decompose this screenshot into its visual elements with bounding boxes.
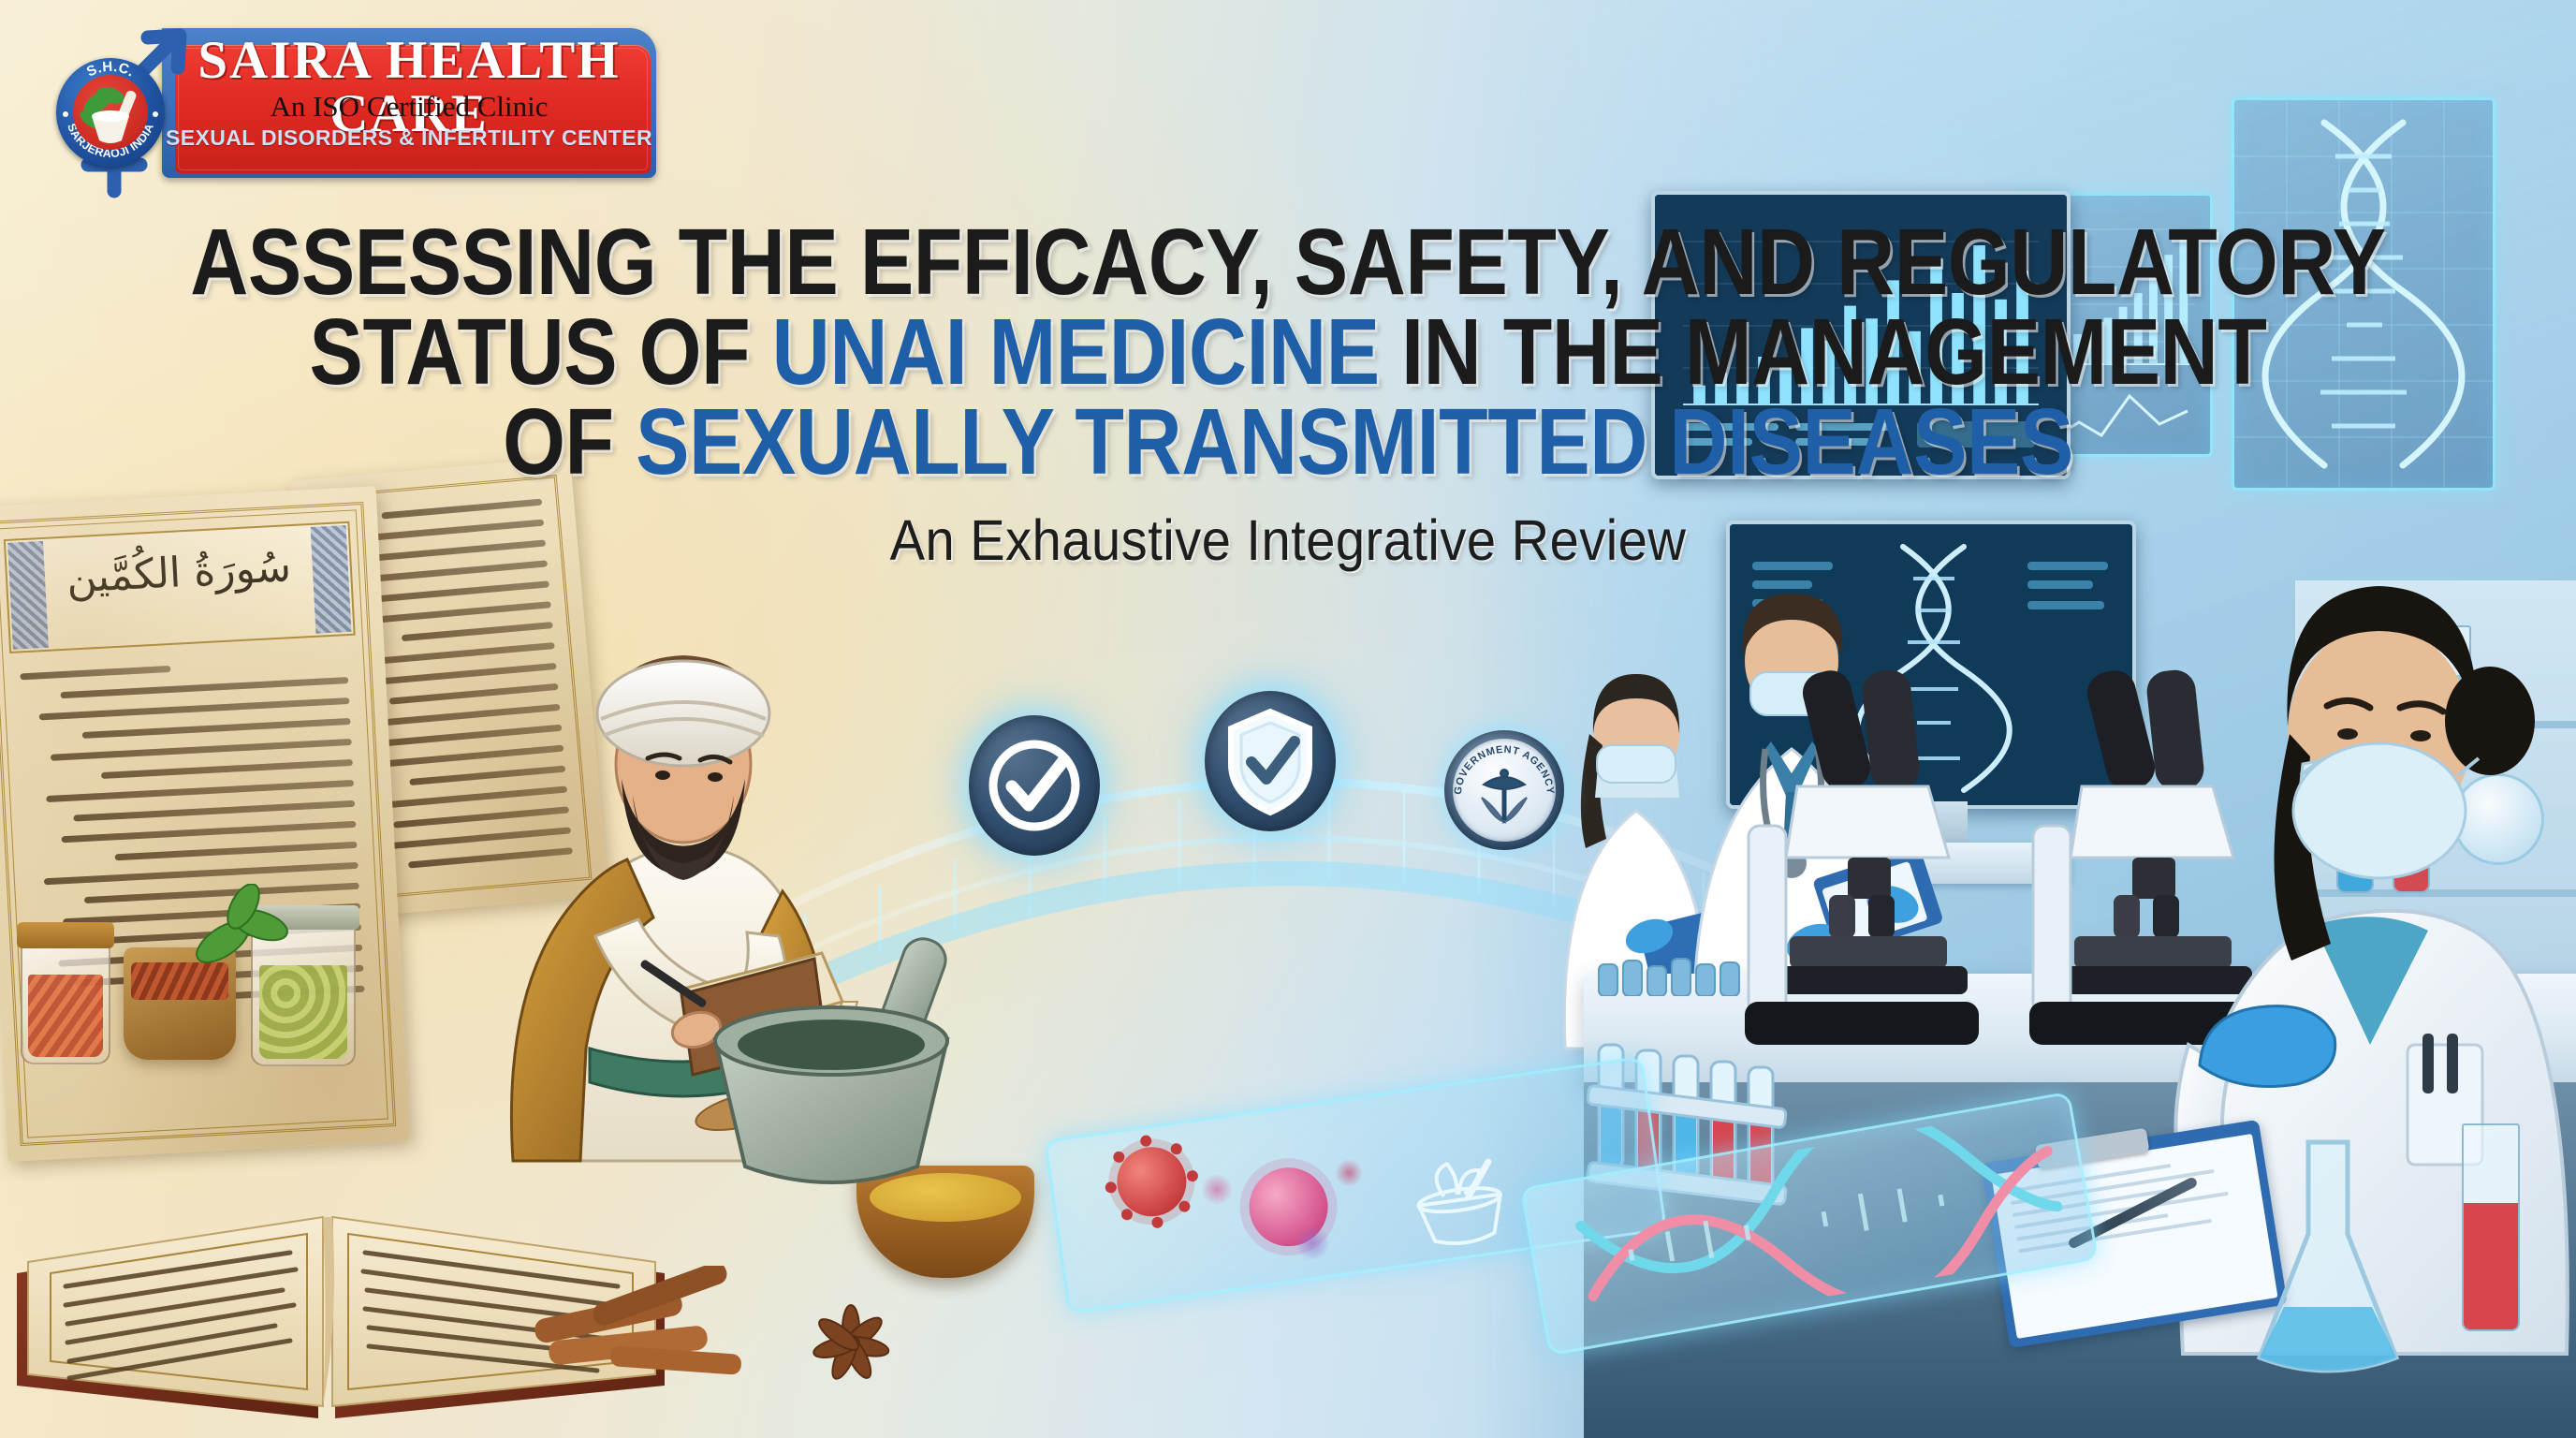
large-test-tube [2462, 1123, 2520, 1331]
herbal-mortar-icon [1398, 1144, 1522, 1256]
headline-line-3: OF SEXUALLY TRANSMITTED DISEASES [181, 397, 2396, 487]
erlenmeyer-flask [2239, 1133, 2417, 1386]
logo-emblem: S.H.C. SARJERAOJI INDIA [34, 30, 174, 170]
badge-row: GOVERNMENT AGENCY [969, 695, 1577, 873]
emblem-mortar-icon [73, 75, 148, 150]
microscope-left [1707, 655, 2016, 1058]
headline-line-2: STATUS OF UNAI MEDICINE IN THE MANAGEMEN… [181, 307, 2396, 397]
cinnamon-sticks [524, 1266, 796, 1387]
poster-root: سُورَةُ الكُمَّين [0, 0, 2576, 1438]
logo-plate: SAIRA HEALTH CARE An ISO Certified Clini… [162, 28, 656, 178]
clinic-name: SAIRA HEALTH CARE [162, 34, 656, 140]
headline-block: ASSESSING THE EFFICACY, SAFETY, AND REGU… [0, 217, 2576, 573]
mortar-and-pestle [672, 927, 990, 1198]
basil-leaves [183, 884, 324, 987]
clinic-tagline: An ISO Certified Clinic [162, 92, 656, 121]
vial-row [1595, 953, 1764, 996]
government-seal-icon: GOVERNMENT AGENCY [1444, 730, 1564, 850]
herb-jar-red [21, 941, 110, 1064]
bacteria-cluster-1 [1199, 1171, 1235, 1207]
gloved-hand [2187, 983, 2346, 1095]
efficacy-badge[interactable] [969, 715, 1100, 856]
shield-check-icon [1205, 691, 1336, 831]
safety-badge[interactable] [1205, 691, 1336, 831]
headline-line-3-pre: OF [503, 389, 636, 494]
clinic-logo[interactable]: SAIRA HEALTH CARE An ISO Certified Clini… [17, 9, 663, 183]
check-circle-icon [969, 715, 1100, 856]
headline-highlight-std: SEXUALLY TRANSMITTED DISEASES [636, 389, 2073, 494]
regulatory-badge[interactable]: GOVERNMENT AGENCY [1444, 730, 1564, 850]
virus-spikes-red [1098, 1128, 1206, 1236]
star-anise [811, 1303, 891, 1384]
headline-subtitle: An Exhaustive Integrative Review [103, 507, 2473, 573]
clinic-specialty: SEXUAL DISORDERS & INFERTILITY CENTER [162, 127, 656, 149]
headline-line-1: ASSESSING THE EFFICACY, SAFETY, AND REGU… [181, 217, 2396, 307]
bacteria-cluster-2 [1333, 1157, 1365, 1189]
